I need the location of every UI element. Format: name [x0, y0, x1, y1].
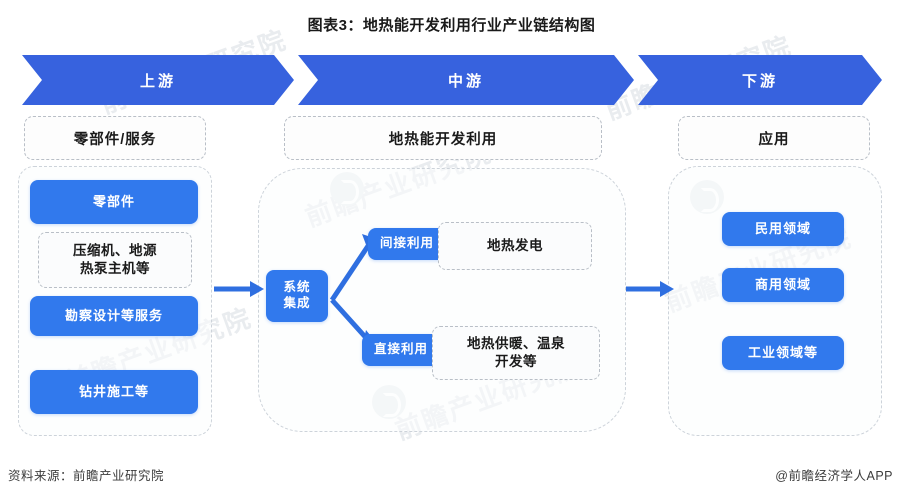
- upstream-item-compressor-detail: 压缩机、地源 热泵主机等: [38, 232, 192, 288]
- banner-segment-label: 下游: [742, 70, 778, 91]
- midstream-branch-tag-indirect[interactable]: 间接利用: [368, 228, 446, 260]
- banner-segment-label: 上游: [140, 70, 176, 91]
- midstream-branch-detail-power: 地热发电: [438, 222, 592, 270]
- banner-segment-upstream[interactable]: 上游: [22, 55, 294, 105]
- source-note: 资料来源：前瞻产业研究院: [8, 465, 164, 484]
- value-chain-banner: 上游 中游 下游: [22, 55, 882, 105]
- chart-canvas: 前瞻产业研究院 前瞻产业研究院 前瞻产业研究院 前瞻产业研究院 前瞻产业研究院 …: [0, 0, 903, 498]
- page-title: 图表3：地热能开发利用行业产业链结构图: [0, 14, 903, 35]
- connector-midstream-to-downstream: [626, 278, 676, 300]
- banner-segment-label: 中游: [448, 70, 484, 91]
- upstream-item-parts[interactable]: 零部件: [30, 180, 198, 224]
- upstream-item-survey-design[interactable]: 勘察设计等服务: [30, 296, 198, 336]
- downstream-item-commercial[interactable]: 商用领域: [722, 268, 844, 302]
- downstream-header: 应用: [678, 116, 870, 160]
- midstream-branch-tag-direct[interactable]: 直接利用: [362, 334, 440, 366]
- downstream-item-industrial[interactable]: 工业领域等: [722, 336, 844, 370]
- banner-segment-downstream[interactable]: 下游: [638, 55, 882, 105]
- banner-segment-midstream[interactable]: 中游: [298, 55, 634, 105]
- credit-note: @前瞻经济学人APP: [775, 465, 893, 484]
- upstream-item-drilling[interactable]: 钻井施工等: [30, 370, 198, 414]
- connector-upstream-to-midstream: [214, 278, 266, 300]
- midstream-branch-detail-heating: 地热供暖、温泉 开发等: [432, 326, 600, 380]
- downstream-item-residential[interactable]: 民用领域: [722, 212, 844, 246]
- upstream-header: 零部件/服务: [24, 116, 206, 160]
- midstream-header: 地热能开发利用: [284, 116, 602, 160]
